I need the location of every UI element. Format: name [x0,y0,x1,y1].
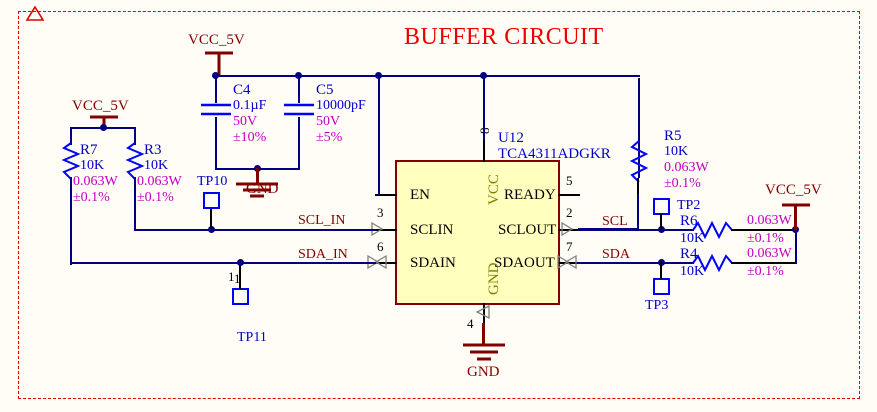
pin-label-sclout: SCLOUT [498,222,556,239]
testpoint-tp11-pad[interactable] [232,288,249,305]
res-r7-refdes: R7 [80,142,98,159]
cap-c4-tolerance: ±10% [233,130,266,146]
res-r6-refdes: R6 [680,213,698,230]
res-r5-value: 10K [664,144,688,160]
pin-label-en: EN [410,187,430,204]
wire-c5-top [298,78,300,103]
wire-vcc-rail [215,75,640,77]
pin-number-2: 2 [566,205,573,221]
pin-label-gnd: GND [486,263,503,296]
res-r6-power: 0.063W [747,213,792,229]
pin-stub-vcc [483,138,485,162]
warning-triangle-icon [25,20,43,35]
pin-arrow-sclout [560,222,576,236]
ic-refdes: U12 [498,130,524,147]
wire-tp10 [210,209,212,229]
wire-gnd-chip [482,323,485,345]
res-r4-refdes: R4 [680,246,698,263]
wire-c4-bottom [215,117,217,170]
ground-symbol-chip [462,343,507,365]
pin-number-3: 3 [377,205,384,221]
res-r6-tolerance: ±0.1% [747,231,784,247]
res-r3-refdes: R3 [144,142,162,159]
testpoint-tp11-label: TP11 [237,330,267,346]
testpoint-tp2-pad[interactable] [653,198,670,215]
pin-arrow-gnd [476,304,490,318]
testpoint-tp10-label: TP10 [197,174,227,190]
schematic-sheet: BUFFER CIRCUIT U12 TCA4311ADGKR EN SCLIN… [0,0,877,412]
net-label-sda-in: SDA_IN [298,247,348,263]
pin-number-5: 5 [566,173,573,189]
wire-c5-bottom [298,117,300,170]
res-r7-power: 0.063W [73,174,118,190]
power-label-vcc-right: VCC_5V [765,182,822,199]
testpoint-tp2-label: TP2 [677,198,700,214]
cap-c5-value: 10000pF [316,98,366,114]
wire-c4-top [215,78,217,103]
res-r5-tolerance: ±0.1% [664,176,701,192]
vcc-symbol-top [203,50,235,78]
res-r5-power: 0.063W [664,160,709,176]
resistor-r5-symbol [630,140,648,184]
net-label-sda: SDA [602,247,630,263]
testpoint-tp10-pad[interactable] [203,192,220,209]
res-r4-value: 10K [680,264,704,280]
res-r7-value: 10K [80,158,104,174]
cap-c4-value: 0.1µF [233,98,266,114]
testpoint-tp3-pad[interactable] [653,278,670,295]
res-r3-power: 0.063W [137,174,182,190]
vcc-symbol-right [780,202,812,210]
pin-label-sdaout: SDAOUT [494,255,555,272]
cap-c5-refdes: C5 [316,82,334,99]
power-label-vcc-top: VCC_5V [188,32,245,49]
wire-tp3 [660,262,662,279]
net-label-scl: SCL [602,214,628,230]
net-label-scl-in: SCL_IN [298,213,345,229]
cap-c4-refdes: C4 [233,82,251,99]
pin-label-ready: READY [504,187,556,204]
cap-c5-tolerance: ±5% [316,130,342,146]
res-r3-tolerance: ±0.1% [137,190,174,206]
wire-r7-bottom [70,177,72,265]
cap-c4-voltage: 50V [233,114,257,130]
wire-en-to-vcc [378,78,380,195]
pin-label-sclin: SCLIN [410,222,453,239]
wire-right-vcc-drop [795,229,797,264]
wire-r3-bottom [134,177,136,231]
pin-label-sdain: SDAIN [410,255,456,272]
pin-number-6: 6 [377,239,384,255]
pin-number-4: 4 [467,316,474,332]
res-r5-refdes: R5 [664,128,682,145]
res-r6-value: 10K [680,231,704,247]
power-label-vcc-left: VCC_5V [72,98,129,115]
pin-arrow-sdaout [556,255,578,269]
ic-part-number: TCA4311ADGKR [498,146,611,163]
pin-label-vcc: VCC [486,174,503,205]
junction-left-vcc [100,124,107,131]
wire-tp2 [660,214,662,230]
ground-label-chip: GND [467,364,500,381]
wire-chip-vcc-feed [483,78,485,140]
testpoint-tp3-label: TP3 [645,298,668,314]
wire-tp11 [239,265,241,289]
pin-number-7: 7 [566,239,573,255]
wire-scl-in [134,229,376,231]
page-title: BUFFER CIRCUIT [404,24,604,51]
wire-r5-to-ready [637,194,639,230]
res-r7-tolerance: ±0.1% [73,190,110,206]
cap-c5-voltage: 50V [316,114,340,130]
ground-label-caps: GND [246,181,279,198]
res-r4-power: 0.063W [747,246,792,262]
pin-stub-ready [558,194,580,196]
res-r4-tolerance: ±0.1% [747,264,784,280]
testpoint-tp11-pin: 1 [228,269,235,285]
res-r3-value: 10K [144,158,168,174]
pin-number-8: 8 [477,128,493,135]
